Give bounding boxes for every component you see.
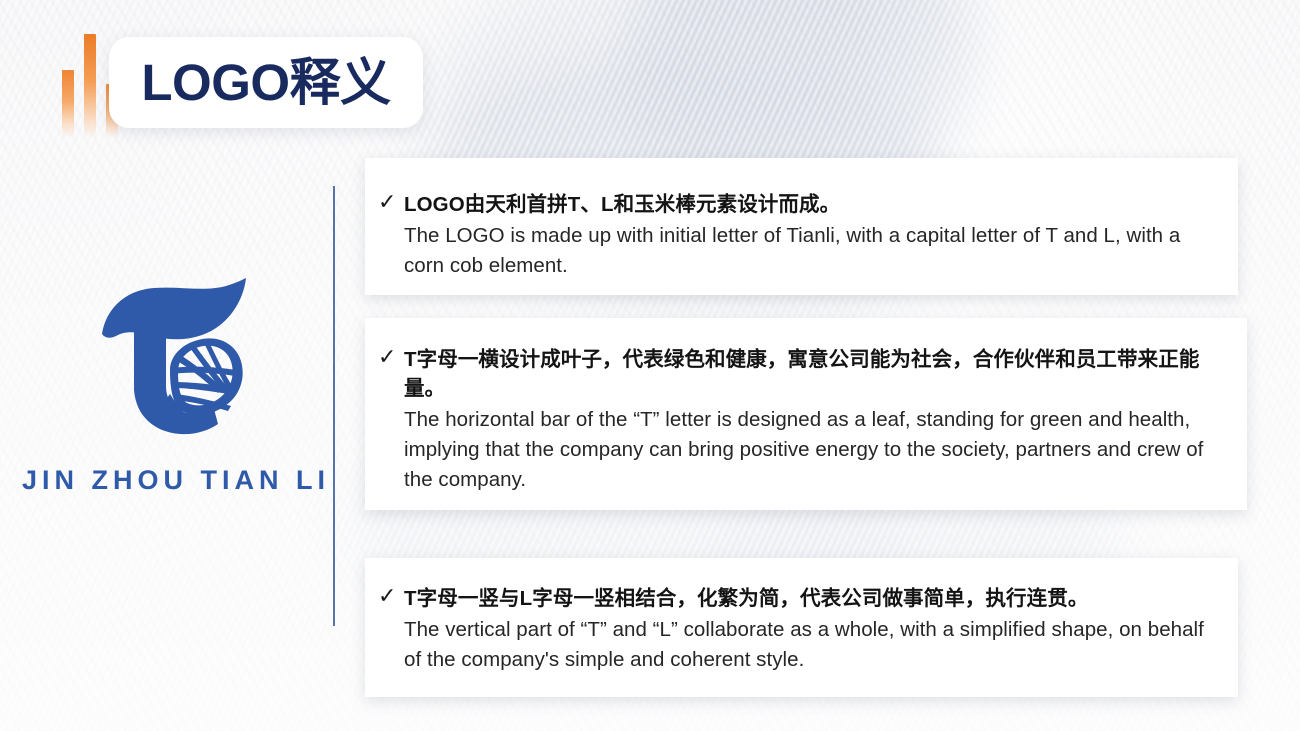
page-title: LOGO释义	[141, 57, 390, 108]
card-1-inner: ✓ LOGO由天利首拼T、L和玉米棒元素设计而成。 The LOGO is ma…	[365, 158, 1238, 281]
card-2-heading-cn: T字母一横设计成叶子，代表绿色和健康，寓意公司能为社会，合作伙伴和员工带来正能量…	[404, 345, 1231, 403]
card-1-body-en: The LOGO is made up with initial letter …	[404, 221, 1212, 281]
decoration-bar-2	[84, 34, 96, 138]
decoration-bar-1	[62, 70, 74, 138]
checkmark-icon-1: ✓	[378, 192, 396, 214]
checkmark-icon-3: ✓	[378, 586, 396, 608]
brand-name: JIN ZHOU TIAN LI	[16, 465, 336, 496]
card-1-heading-cn: LOGO由天利首拼T、L和玉米棒元素设计而成。	[404, 190, 1212, 219]
card-3-body-en: The vertical part of “T” and “L” collabo…	[404, 615, 1212, 675]
card-3-inner: ✓ T字母一竖与L字母一竖相结合，化繁为简，代表公司做事简单，执行连贯。 The…	[365, 558, 1238, 675]
page-title-pill: LOGO释义	[109, 37, 423, 128]
content-card-1: ✓ LOGO由天利首拼T、L和玉米棒元素设计而成。 The LOGO is ma…	[365, 158, 1238, 295]
content-card-3: ✓ T字母一竖与L字母一竖相结合，化繁为简，代表公司做事简单，执行连贯。 The…	[365, 558, 1238, 697]
card-2-body-en: The horizontal bar of the “T” letter is …	[404, 405, 1231, 495]
card-2-inner: ✓ T字母一横设计成叶子，代表绿色和健康，寓意公司能为社会，合作伙伴和员工带来正…	[365, 318, 1247, 495]
tianli-leaf-corn-logo-icon	[96, 278, 256, 438]
content-card-2: ✓ T字母一横设计成叶子，代表绿色和健康，寓意公司能为社会，合作伙伴和员工带来正…	[365, 318, 1247, 510]
slide-canvas: LOGO释义 JIN ZHOU TIAN LI	[0, 0, 1300, 731]
checkmark-icon-2: ✓	[378, 347, 396, 369]
card-3-heading-cn: T字母一竖与L字母一竖相结合，化繁为简，代表公司做事简单，执行连贯。	[404, 584, 1212, 613]
vertical-divider-line	[333, 186, 335, 626]
orange-bar-chart-decoration-icon	[62, 34, 114, 138]
